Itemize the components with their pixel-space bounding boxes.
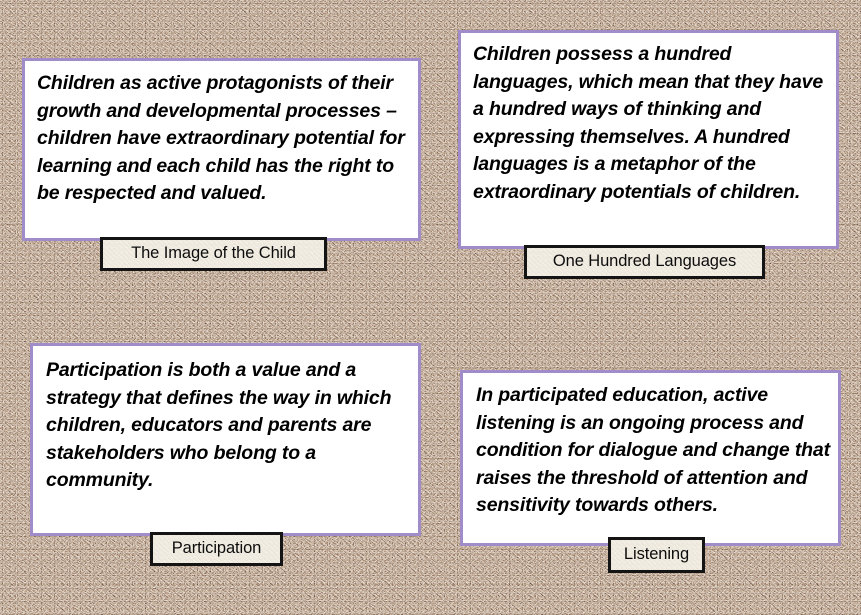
concept-tag-hundred-languages[interactable]: One Hundred Languages [524,245,765,279]
concept-tag-listening[interactable]: Listening [608,537,705,573]
slide-canvas: Children as active protagonists of their… [0,0,861,615]
concept-tag-label: Participation [172,540,262,557]
concept-card-body: Children possess a hundred languages, wh… [461,33,836,206]
concept-card-listening[interactable]: In participated education, active listen… [460,370,841,546]
concept-tag-participation[interactable]: Participation [150,532,283,566]
concept-card-participation[interactable]: Participation is both a value and a stra… [30,343,421,536]
concept-card-body: Participation is both a value and a stra… [33,346,418,495]
concept-tag-image-of-child[interactable]: The Image of the Child [100,237,327,271]
concept-card-image-of-child[interactable]: Children as active protagonists of their… [22,58,421,241]
concept-tag-label: The Image of the Child [131,245,296,262]
concept-tag-label: Listening [624,546,689,563]
concept-card-body: In participated education, active listen… [463,373,838,520]
concept-card-body: Children as active protagonists of their… [25,61,418,208]
concept-card-hundred-languages[interactable]: Children possess a hundred languages, wh… [458,30,839,249]
concept-tag-label: One Hundred Languages [553,253,736,270]
